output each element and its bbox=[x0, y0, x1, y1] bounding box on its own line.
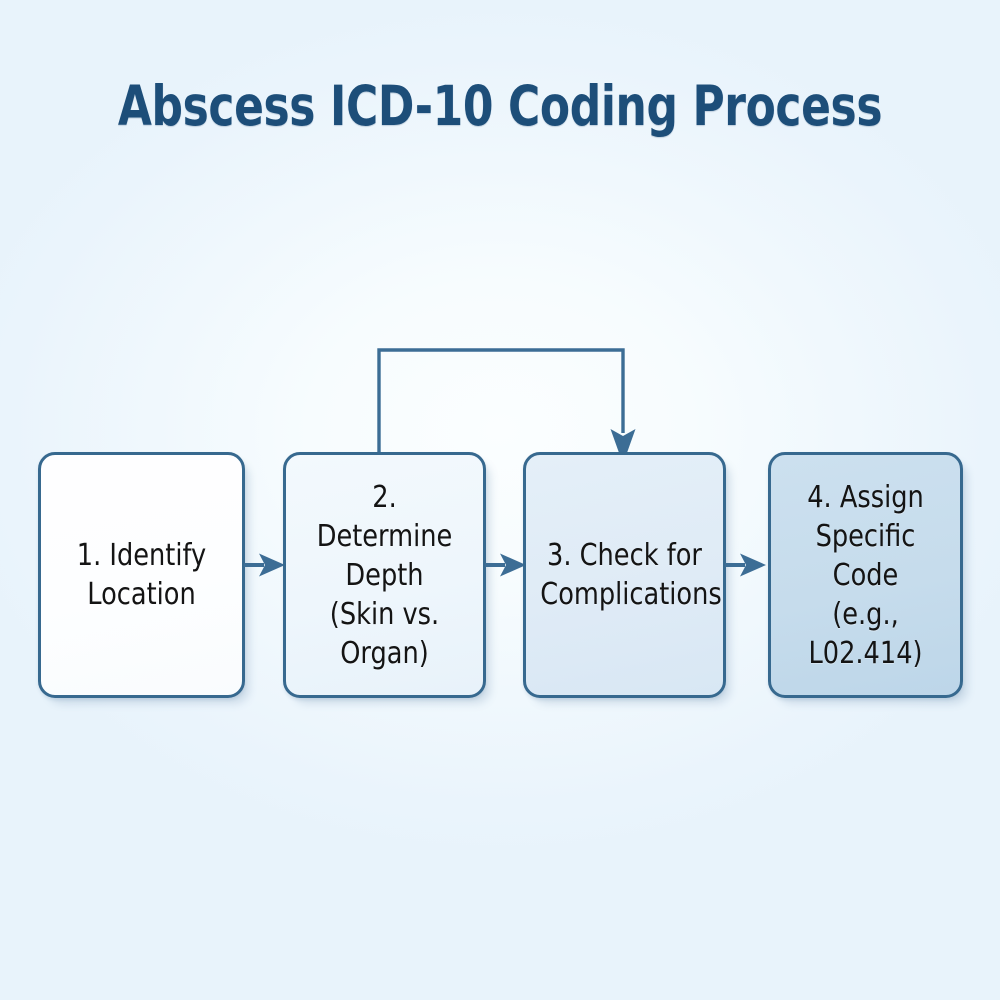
flow-node-step-1[interactable]: 1. Identify Location bbox=[38, 452, 245, 698]
flow-node-step-4[interactable]: 4. Assign Specific Code (e.g., L02.414) bbox=[768, 452, 963, 698]
flow-node-step-1-label: 1. Identify Location bbox=[56, 536, 228, 614]
flow-node-step-3[interactable]: 3. Check for Complications bbox=[523, 452, 726, 698]
connector-arrow-step1-step2 bbox=[244, 552, 285, 578]
flow-node-step-4-label: 4. Assign Specific Code (e.g., L02.414) bbox=[785, 478, 947, 673]
diagram-canvas: Abscess ICD-10 Coding Process 1. Identif… bbox=[0, 0, 1000, 1000]
connector-arrow-step2-step3 bbox=[485, 552, 526, 578]
connector-arrow-step3-step4 bbox=[725, 552, 766, 578]
flow-node-step-2-label: 2. Determine Depth (Skin vs. Organ) bbox=[300, 478, 468, 673]
flow-node-step-2[interactable]: 2. Determine Depth (Skin vs. Organ) bbox=[283, 452, 486, 698]
page-title: Abscess ICD-10 Coding Process bbox=[100, 78, 900, 136]
feedback-loop-arrow bbox=[360, 335, 650, 465]
flow-node-step-3-label: 3. Check for Complications bbox=[539, 536, 711, 614]
